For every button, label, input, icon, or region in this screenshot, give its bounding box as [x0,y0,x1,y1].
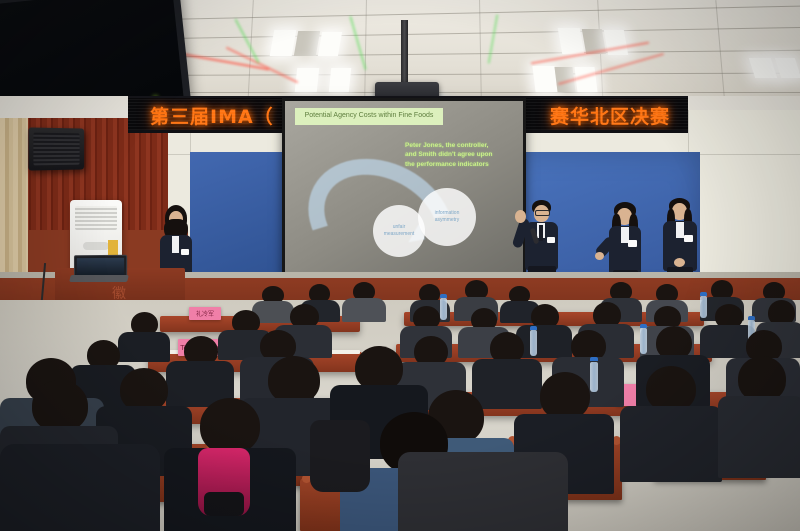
ceiling-light-panel [775,58,800,78]
eyeglasses-icon [535,210,550,216]
audience-member [620,366,722,478]
audience-member [718,356,800,474]
ceiling-light-panel [532,66,557,92]
necktie [539,225,543,241]
name-card: 礼冷军 [189,307,221,320]
slide-bubble-information-asymmetry: information asymmetry [418,188,476,246]
black-backpack [310,420,370,492]
led-banner-text-right: 赛华北区决赛 [550,102,670,129]
water-bottle-cap [748,316,755,320]
slide-bullet-text: Peter Jones, the controller, and Smith d… [405,141,501,169]
ceiling-light-panel [295,68,320,92]
name-badge [684,235,693,242]
slide-title: Potential Agency Costs within Fine Foods [295,108,443,125]
ceiling-light-panel [604,30,628,55]
ceiling-light-panel [318,32,342,56]
water-bottle-cap [530,326,537,330]
name-badge [628,240,637,247]
projector-mount [401,20,408,86]
lecture-hall-photo: 第三届IMA（ 赛华北区决赛 Potential Agency Costs wi… [0,0,800,531]
name-badge [181,249,189,255]
audience-member [0,444,160,531]
ceiling-light-panel [558,28,585,54]
water-bottle-cap [590,357,598,361]
ceiling-light-panel [749,58,777,78]
water-bottle-cap [700,292,707,296]
audience-member [342,282,386,320]
projection-screen: Potential Agency Costs within Fine Foods… [282,98,526,276]
pink-backpack [198,448,250,516]
audience-member [398,452,568,531]
wall-speaker [28,127,84,170]
water-bottle-cap [440,294,447,298]
ceiling-light-panel [329,68,352,92]
name-badge [547,237,555,243]
led-banner-text-left: 第三届IMA（ [150,102,274,129]
ceiling-light-panel [270,30,297,56]
laptop-keyboard[interactable] [69,275,129,282]
